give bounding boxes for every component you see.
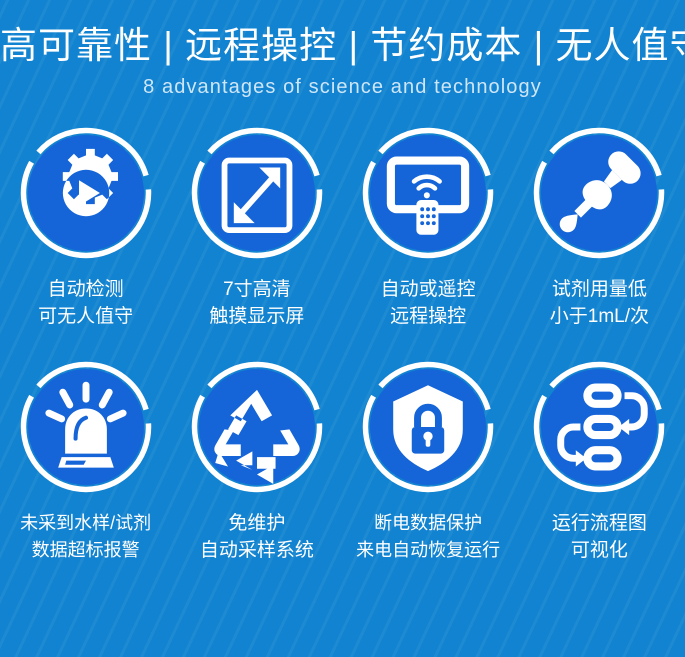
feature-caption-7-line2: 来电自动恢复运行 xyxy=(356,537,500,564)
feature-caption-3: 自动或遥控 远程操控 xyxy=(381,276,476,330)
feature-caption-8-line2: 可视化 xyxy=(552,537,647,564)
feature-badge-3 xyxy=(361,126,495,260)
feature-row-2: 未采到水样/试剂 数据超标报警 xyxy=(0,360,685,564)
feature-badge-7 xyxy=(361,360,495,494)
feature-badge-1 xyxy=(19,126,153,260)
header: 高可靠性 | 远程操控 | 节约成本 | 无人值守 8 advantages o… xyxy=(0,0,685,104)
feature-caption-4-line1: 试剂用量低 xyxy=(552,279,647,300)
feature-caption-7: 断电数据保护 来电自动恢复运行 xyxy=(356,510,500,564)
page-title: 高可靠性 | 远程操控 | 节约成本 | 无人值守 xyxy=(0,22,685,70)
tv-remote-wifi-icon xyxy=(370,135,486,251)
feature-caption-6-line2: 自动采样系统 xyxy=(200,537,314,564)
feature-card-1[interactable]: 自动检测 可无人值守 xyxy=(0,126,171,330)
feature-caption-4-line2: 小于1mL/次 xyxy=(550,303,649,330)
shield-lock-icon xyxy=(370,369,486,485)
feature-caption-8: 运行流程图 可视化 xyxy=(552,510,647,564)
alarm-siren-icon xyxy=(28,369,144,485)
feature-caption-2-line2: 触摸显示屏 xyxy=(209,303,304,330)
expand-screen-icon xyxy=(199,135,315,251)
feature-badge-5 xyxy=(19,360,153,494)
feature-badge-4 xyxy=(532,126,666,260)
page-subtitle: 8 advantages of science and technology xyxy=(0,70,685,104)
feature-caption-6: 免维护 自动采样系统 xyxy=(200,510,314,564)
gear-play-icon xyxy=(28,135,144,251)
poster-root: 高可靠性 | 远程操控 | 节约成本 | 无人值守 8 advantages o… xyxy=(0,0,685,657)
feature-card-5[interactable]: 未采到水样/试剂 数据超标报警 xyxy=(0,360,171,564)
feature-caption-5-line1: 未采到水样/试剂 xyxy=(20,513,151,533)
feature-caption-1: 自动检测 可无人值守 xyxy=(38,276,133,330)
feature-caption-8-line1: 运行流程图 xyxy=(552,513,647,534)
feature-caption-2-line1: 7寸高清 xyxy=(223,279,291,300)
feature-badge-2 xyxy=(190,126,324,260)
feature-caption-1-line1: 自动检测 xyxy=(48,279,124,300)
feature-card-4[interactable]: 试剂用量低 小于1mL/次 xyxy=(514,126,685,330)
dropper-icon xyxy=(541,135,657,251)
feature-caption-3-line2: 远程操控 xyxy=(381,303,476,330)
feature-caption-3-line1: 自动或遥控 xyxy=(381,279,476,300)
feature-card-6[interactable]: 免维护 自动采样系统 xyxy=(171,360,342,564)
feature-badge-6 xyxy=(190,360,324,494)
feature-caption-7-line1: 断电数据保护 xyxy=(374,513,482,533)
feature-badge-8 xyxy=(532,360,666,494)
feature-card-8[interactable]: 运行流程图 可视化 xyxy=(514,360,685,564)
recycle-icon xyxy=(199,369,315,485)
feature-row-1: 自动检测 可无人值守 7寸高清 触摸显示屏 xyxy=(0,126,685,330)
feature-caption-1-line2: 可无人值守 xyxy=(38,303,133,330)
feature-caption-5-line2: 数据超标报警 xyxy=(20,537,151,564)
flowchart-icon xyxy=(541,369,657,485)
feature-caption-6-line1: 免维护 xyxy=(228,513,285,534)
feature-caption-5: 未采到水样/试剂 数据超标报警 xyxy=(20,510,151,564)
feature-caption-2: 7寸高清 触摸显示屏 xyxy=(209,276,304,330)
feature-card-7[interactable]: 断电数据保护 来电自动恢复运行 xyxy=(343,360,514,564)
feature-caption-4: 试剂用量低 小于1mL/次 xyxy=(550,276,649,330)
feature-card-3[interactable]: 自动或遥控 远程操控 xyxy=(343,126,514,330)
feature-card-2[interactable]: 7寸高清 触摸显示屏 xyxy=(171,126,342,330)
